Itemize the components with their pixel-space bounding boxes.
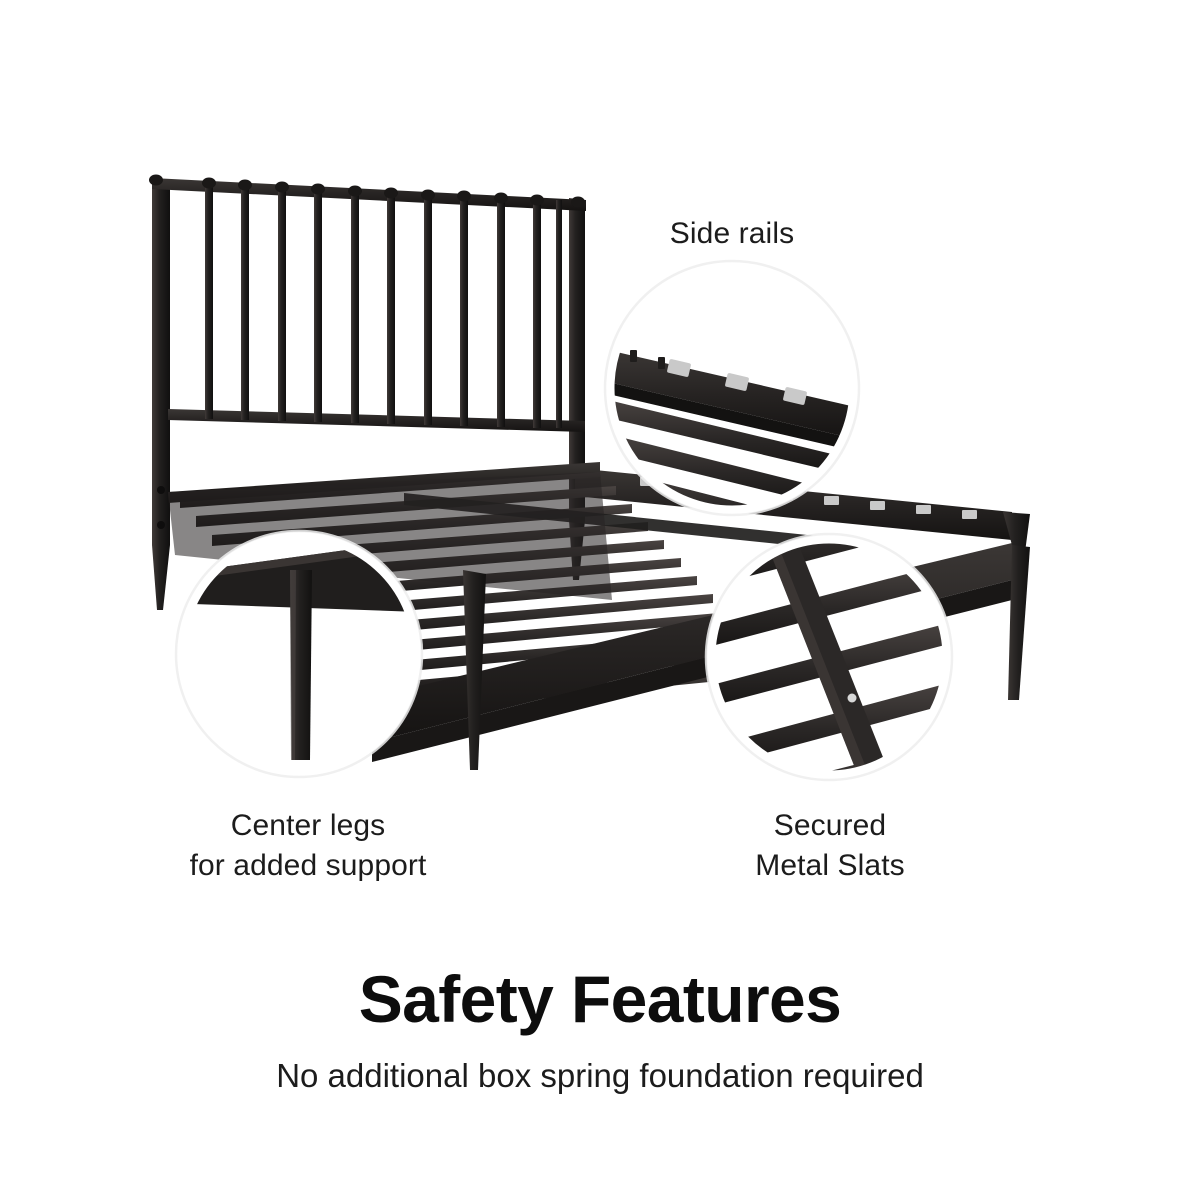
product-illustration: Side rails Center legs for added support…: [0, 0, 1200, 960]
headline: Safety Features: [0, 965, 1200, 1034]
headboard-left-post: [152, 178, 170, 610]
headboard-spindles: [205, 182, 562, 428]
headboard-lower-rail: [168, 409, 585, 432]
callout-circle-center-legs: [176, 531, 422, 777]
callout-label-side-rails: Side rails: [582, 214, 882, 254]
headboard-top-rail: [152, 178, 586, 211]
footer-text-block: Safety Features No additional box spring…: [0, 965, 1200, 1096]
callout-label-center-legs: Center legs for added support: [148, 806, 468, 885]
callout-circle-secured-slats: [700, 500, 960, 821]
product-infographic: Side rails Center legs for added support…: [0, 0, 1200, 1200]
subheadline: No additional box spring foundation requ…: [0, 1056, 1200, 1096]
callout-label-secured-slats: Secured Metal Slats: [680, 806, 980, 885]
front-left-leg: [463, 570, 486, 770]
